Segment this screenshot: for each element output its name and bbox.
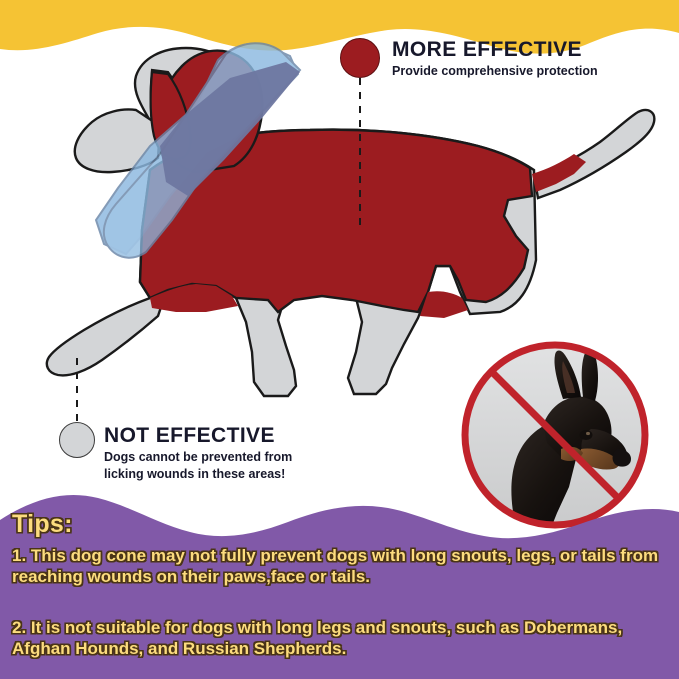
- not-effective-marker-dot: [59, 422, 95, 458]
- doberman-eye: [580, 430, 593, 440]
- doberman-prohibition-badge: [457, 337, 653, 533]
- tips-panel: Tips: 1. This dog cone may not fully pre…: [0, 505, 679, 679]
- more-effective-callout: MORE EFFECTIVE Provide comprehensive pro…: [392, 38, 598, 79]
- not-effective-title: NOT EFFECTIVE: [104, 424, 292, 448]
- tips-heading: Tips:: [12, 510, 73, 539]
- not-effective-callout: NOT EFFECTIVE Dogs cannot be prevented f…: [104, 424, 292, 482]
- dog-front-leg-left: [47, 292, 166, 375]
- doberman-eye-highlight: [586, 432, 590, 435]
- tips-item-1: 1. This dog cone may not fully prevent d…: [12, 545, 672, 587]
- not-effective-subtitle-line1: Dogs cannot be prevented from: [104, 450, 292, 465]
- more-effective-subtitle: Provide comprehensive protection: [392, 64, 598, 79]
- more-effective-marker-dot: [340, 38, 380, 78]
- tips-item-2: 2. It is not suitable for dogs with long…: [12, 617, 672, 659]
- not-effective-subtitle-line2: licking wounds in these areas!: [104, 467, 292, 482]
- product-infographic: MORE EFFECTIVE Provide comprehensive pro…: [0, 0, 679, 679]
- more-effective-title: MORE EFFECTIVE: [392, 38, 598, 62]
